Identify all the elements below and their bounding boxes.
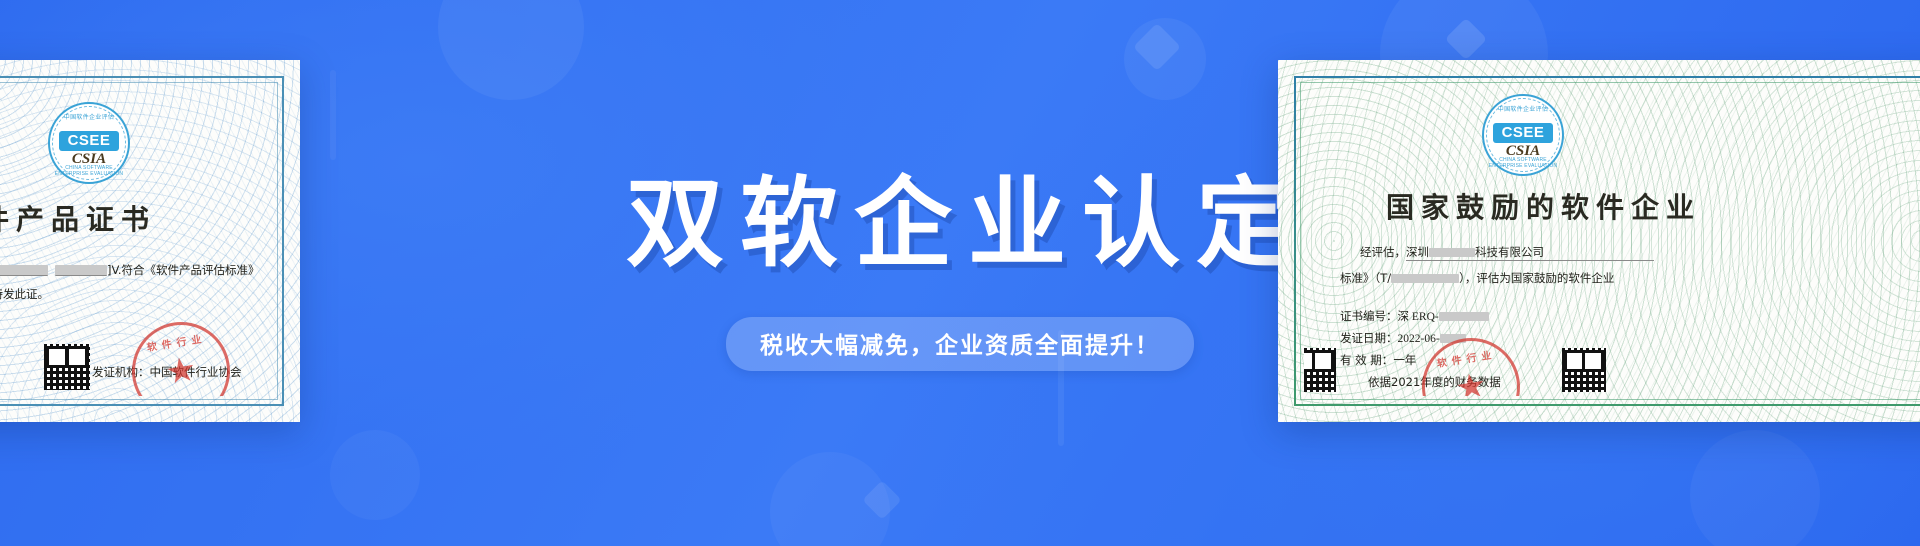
right-cert-field-2: 有 效 期：一年 xyxy=(1340,352,1416,368)
subtitle-badge: 税收大幅减免，企业资质全面提升！ xyxy=(726,317,1194,371)
right-cert-body: 中国软件企业评估 CSEE CSIA CHINA SOFTWARE ENTERP… xyxy=(1304,86,1920,396)
right-cert-title: 国家鼓励的软件企业 xyxy=(1386,186,1701,226)
right-cert-field-1-value: 2022-06- xyxy=(1398,333,1440,345)
right-cert-field-2-label: 有 效 期： xyxy=(1340,353,1393,367)
right-cert-company-prefix: 深圳 xyxy=(1406,245,1429,259)
right-cert-standard-line: 标准》（T/），评估为国家鼓励的软件企业 xyxy=(1340,270,1614,286)
csee-ring-bottom-text-right: CHINA SOFTWARE ENTERPRISE EVALUATION xyxy=(1484,157,1562,169)
qr-code-right-2 xyxy=(1562,348,1606,392)
right-cert-field-2-value: 一年 xyxy=(1393,353,1416,367)
right-certificate-card: 中国软件企业评估 CSEE CSIA CHINA SOFTWARE ENTERP… xyxy=(1278,60,1920,422)
right-cert-standard-suffix: ），评估为国家鼓励的软件企业 xyxy=(1459,271,1614,285)
banner-root: 中国软件企业评估 CSEE CSIA CHINA SOFTWARE ENTERP… xyxy=(0,0,1920,546)
qr-code-right-1 xyxy=(1304,348,1336,392)
right-cert-field-0-label: 证书编号： xyxy=(1340,309,1398,323)
right-cert-standard-prefix: 标准》（T/ xyxy=(1340,271,1391,285)
right-cert-body-line: 经评估，深圳科技有限公司 xyxy=(1360,244,1654,260)
right-cert-field-0-redaction xyxy=(1439,312,1489,321)
right-cert-company-underline: 深圳科技有限公司 xyxy=(1406,245,1654,261)
csee-logo-right: 中国软件企业评估 CSEE CSIA CHINA SOFTWARE ENTERP… xyxy=(1482,94,1564,176)
right-cert-company-redaction xyxy=(1429,248,1475,257)
right-cert-standard-redaction xyxy=(1391,274,1459,283)
right-cert-field-0: 证书编号：深 ERQ- xyxy=(1340,308,1489,324)
right-cert-company-suffix: 科技有限公司 xyxy=(1475,245,1544,259)
csee-mark-right: CSEE xyxy=(1493,123,1553,143)
right-cert-field-0-value: 深 ERQ- xyxy=(1398,311,1439,323)
page-title: 双软企业认定 xyxy=(610,175,1310,273)
csee-ring-top-text-right: 中国软件企业评估 xyxy=(1484,104,1562,113)
right-cert-body-prefix: 经评估， xyxy=(1360,245,1406,259)
right-cert-field-1-label: 发证日期： xyxy=(1340,331,1398,345)
